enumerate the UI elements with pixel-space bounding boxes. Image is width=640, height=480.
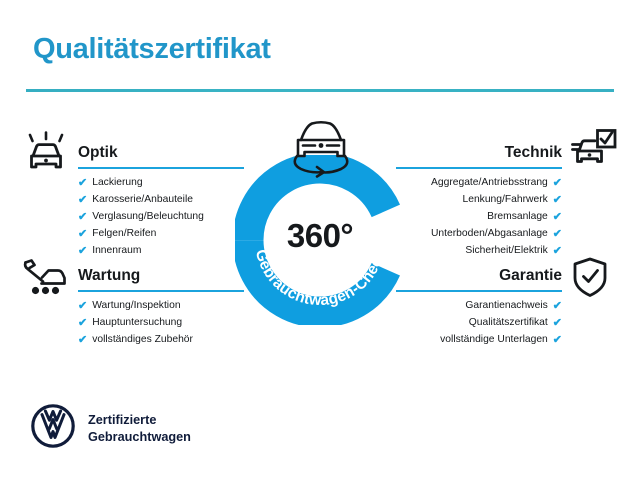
section-garantie-title: Garantie [499,268,562,288]
check-icon: ✔ [553,246,562,257]
section-garantie-divider [396,290,562,292]
list-item-label: Qualitätszertifikat [469,318,548,328]
check-icon: ✔ [553,178,562,189]
section-wartung: Wartung ✔ Wartung/Inspektion ✔ Hauptunte… [78,268,244,352]
section-wartung-title: Wartung [78,268,140,288]
check-icon: ✔ [78,229,87,240]
list-item: ✔ Innenraum [78,246,244,257]
check-icon: ✔ [553,335,562,346]
footer: Zertifizierte Gebrauchtwagen [31,404,191,453]
shield-check-icon [570,256,610,305]
list-item-label: vollständiges Zubehör [92,335,193,345]
list-item: ✔ Unterboden/Abgasanlage [431,229,562,240]
list-item-label: Wartung/Inspektion [92,301,180,311]
list-item: ✔ Sicherheit/Elektrik [465,246,562,257]
list-item: ✔ vollständiges Zubehör [78,335,244,346]
list-item: ✔ Aggregate/Antriebsstrang [431,178,562,189]
wrench-car-icon [21,257,69,306]
section-wartung-divider [78,290,244,292]
list-item: ✔ Garantienachweis [465,301,562,312]
check-icon: ✔ [553,212,562,223]
list-item-label: Hauptuntersuchung [92,318,182,328]
list-item-label: Innenraum [92,246,141,256]
vw-logo [31,404,75,453]
section-technik-title: Technik [505,145,562,165]
list-item-label: Garantienachweis [465,301,547,311]
section-optik-title: Optik [78,145,118,165]
list-item: ✔ Karosserie/Anbauteile [78,195,244,206]
list-item-label: vollständige Unterlagen [440,335,548,345]
section-technik-divider [396,167,562,169]
section-optik: Optik ✔ Lackierung ✔ Karosserie/Anbautei… [78,145,244,263]
title-divider [26,89,614,92]
list-item-label: Karosserie/Anbauteile [92,195,193,205]
check-icon: ✔ [78,335,87,346]
section-wartung-header: Wartung [78,268,244,288]
list-item: ✔ Lackierung [78,178,244,189]
list-item: ✔ Qualitätszertifikat [469,318,562,329]
car-rotate-icon [279,118,363,180]
list-item: ✔ vollständige Unterlagen [440,335,562,346]
car-checkbox-icon [568,128,618,177]
section-technik: Technik ✔ Aggregate/Antriebsstrang ✔ Len… [396,145,562,263]
check-icon: ✔ [553,301,562,312]
check-icon: ✔ [78,195,87,206]
list-item: ✔ Wartung/Inspektion [78,301,244,312]
check-icon: ✔ [553,229,562,240]
section-optik-list: ✔ Lackierung ✔ Karosserie/Anbauteile ✔ V… [78,178,244,257]
list-item-label: Lenkung/Fahrwerk [463,195,548,205]
section-garantie-header: Garantie [396,268,562,288]
check-icon: ✔ [78,212,87,223]
badge-360-ring: Gebrauchtwagen-Check 360° [235,155,405,325]
list-item-label: Sicherheit/Elektrik [465,246,547,256]
list-item-label: Unterboden/Abgasanlage [431,229,548,239]
car-shine-icon [23,131,69,180]
check-icon: ✔ [78,178,87,189]
list-item-label: Bremsanlage [487,212,548,222]
check-icon: ✔ [553,195,562,206]
list-item: ✔ Verglasung/Beleuchtung [78,212,244,223]
section-garantie-list: ✔ Garantienachweis ✔ Qualitätszertifikat… [396,301,562,352]
section-optik-header: Optik [78,145,244,165]
list-item: ✔ Bremsanlage [487,212,562,223]
check-icon: ✔ [78,246,87,257]
section-technik-list: ✔ Aggregate/Antriebsstrang ✔ Lenkung/Fah… [396,178,562,263]
footer-text: Zertifizierte Gebrauchtwagen [88,412,191,446]
certificate-page: Qualitätszertifikat Optik ✔ Lackierung [0,0,640,480]
section-garantie: Garantie ✔ Garantienachweis ✔ Qualitätsz… [396,268,562,352]
section-wartung-list: ✔ Wartung/Inspektion ✔ Hauptuntersuchung… [78,301,244,346]
section-technik-header: Technik [396,145,562,165]
list-item-label: Verglasung/Beleuchtung [92,212,204,222]
check-icon: ✔ [553,318,562,329]
list-item-label: Lackierung [92,178,142,188]
list-item: ✔ Hauptuntersuchung [78,318,244,329]
list-item-label: Felgen/Reifen [92,229,156,239]
check-icon: ✔ [78,301,87,312]
list-item: ✔ Lenkung/Fahrwerk [463,195,563,206]
check-icon: ✔ [78,318,87,329]
section-optik-divider [78,167,244,169]
list-item-label: Aggregate/Antriebsstrang [431,178,548,188]
list-item: ✔ Felgen/Reifen [78,229,244,240]
page-title: Qualitätszertifikat [33,33,271,66]
